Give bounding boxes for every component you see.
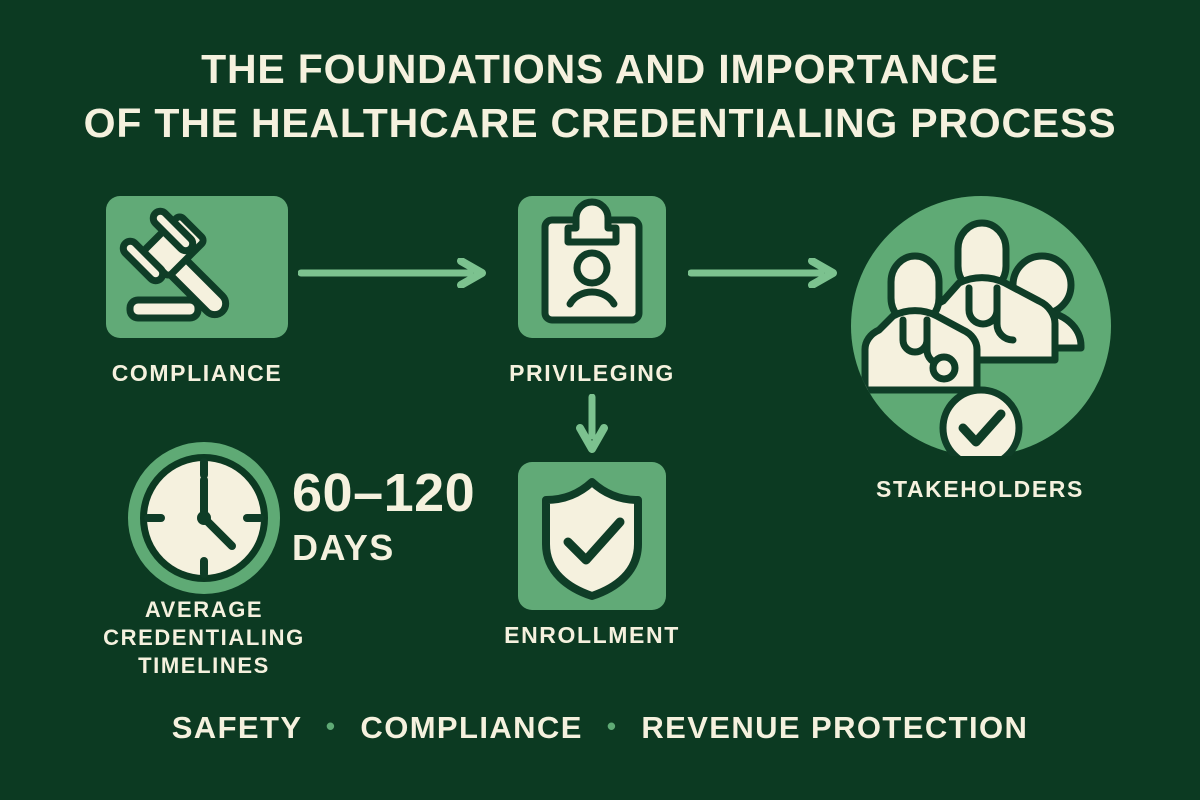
compliance-label: COMPLIANCE: [112, 360, 283, 387]
tagline-item-compliance: COMPLIANCE: [360, 710, 582, 745]
tagline-separator-1-icon: •: [326, 711, 337, 741]
clock-icon: [128, 442, 280, 594]
page-title-line-2: OF THE HEALTHCARE CREDENTIALING PROCESS: [0, 96, 1200, 150]
stakeholders-label: STAKEHOLDERS: [876, 476, 1084, 503]
metric-caption-line-1: AVERAGE: [64, 596, 344, 624]
arrow-compliance-to-privileging-icon: [298, 258, 492, 288]
arrow-privileging-to-enrollment-icon: [575, 394, 609, 456]
metric-unit: DAYS: [292, 530, 475, 566]
gavel-icon: [106, 196, 288, 338]
clipboard-person-icon: [518, 196, 666, 338]
healthcare-team-check-icon: [851, 196, 1111, 456]
shield-check-icon: [518, 462, 666, 610]
metric-caption-line-2: CREDENTIALING: [64, 624, 344, 652]
tagline: SAFETY • COMPLIANCE • REVENUE PROTECTION: [0, 710, 1200, 746]
tagline-item-safety: SAFETY: [172, 710, 302, 745]
arrow-privileging-to-stakeholders-icon: [688, 258, 843, 288]
tagline-item-revenue-protection: REVENUE PROTECTION: [641, 710, 1028, 745]
metric-caption: AVERAGE CREDENTIALING TIMELINES: [64, 596, 344, 680]
page-title: THE FOUNDATIONS AND IMPORTANCE OF THE HE…: [0, 42, 1200, 150]
privileging-label: PRIVILEGING: [509, 360, 675, 387]
tagline-separator-2-icon: •: [607, 711, 618, 741]
metric-value: 60–120: [292, 466, 475, 520]
metric-value-block: 60–120 DAYS: [292, 466, 475, 566]
enrollment-label: ENROLLMENT: [504, 622, 680, 649]
metric-caption-line-3: TIMELINES: [64, 652, 344, 680]
infographic-canvas: THE FOUNDATIONS AND IMPORTANCE OF THE HE…: [0, 0, 1200, 800]
page-title-line-1: THE FOUNDATIONS AND IMPORTANCE: [0, 42, 1200, 96]
